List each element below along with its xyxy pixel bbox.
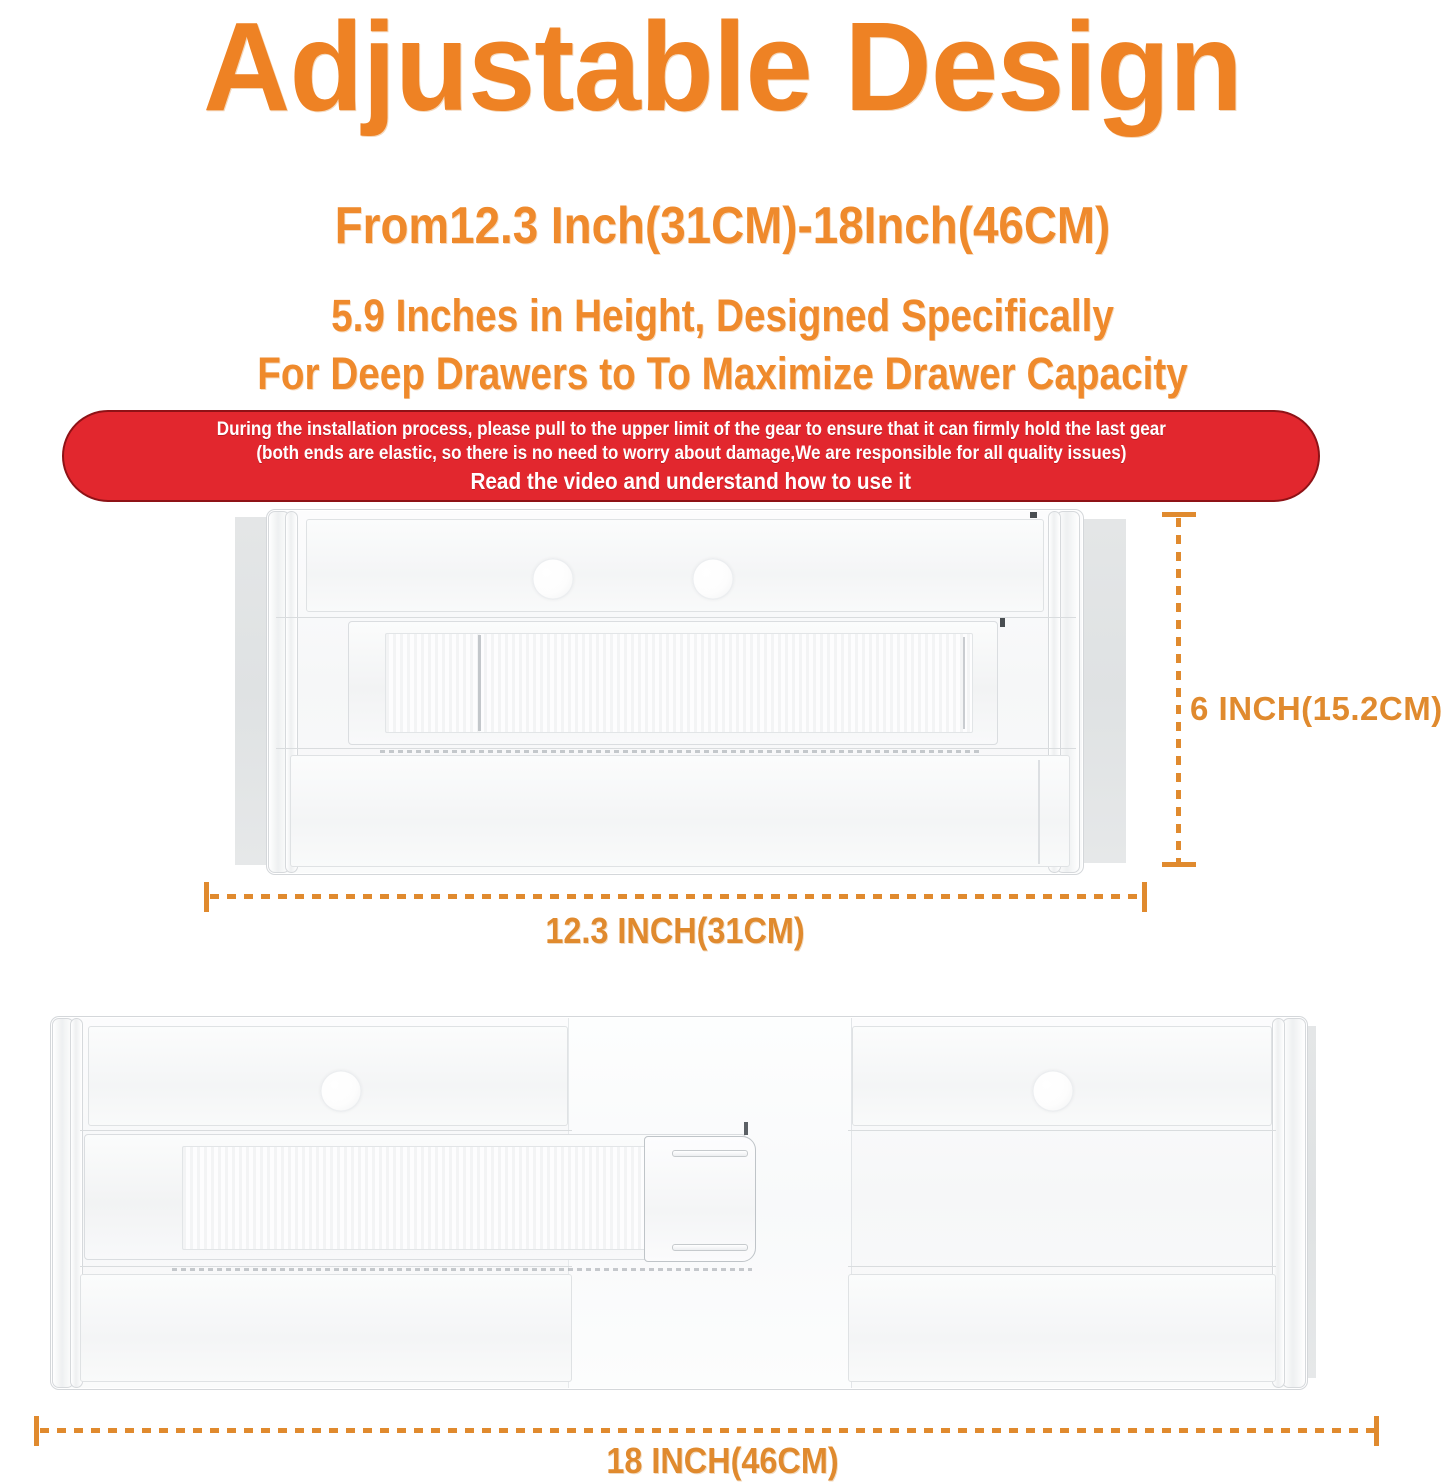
separator-lower-left [80,1266,572,1267]
gear-tick-mark [744,1122,748,1135]
dim-cap-left [204,882,209,912]
installation-notice-banner: During the installation process, please … [62,410,1320,502]
dim-label-height: 6 INCH(15.2CM) [1190,690,1443,728]
dim-line-width-bottom [40,1428,1376,1433]
subtitle-capacity: For Deep Drawers to To Maximize Drawer C… [101,348,1344,400]
latch-bar-top [672,1150,748,1157]
right-rail-expanded [1282,1018,1306,1388]
separator-upper-left [80,1130,572,1131]
subtitle-height: 5.9 Inches in Height, Designed Specifica… [101,290,1344,342]
rib-groove-right [963,637,965,729]
product-image-collapsed [230,505,1130,880]
finger-hole-right-expanded [1032,1070,1074,1112]
page-title: Adjustable Design [29,0,1416,139]
dim-cap-bottom [1162,862,1196,867]
left-bottom-face [80,1274,572,1382]
finger-hole-right [692,558,734,600]
dim-cap-left-bottom [34,1416,39,1446]
finger-hole-left [532,558,574,600]
separator-lower-right [848,1266,1276,1267]
dim-cap-right-bottom [1374,1416,1379,1446]
finger-hole-left-expanded [320,1070,362,1112]
bottom-face-panel [290,755,1070,867]
notice-line-3: Read the video and understand how to use… [471,466,911,496]
latch-bar-bottom [672,1244,748,1251]
corner-marker-mid [1000,618,1005,627]
corner-marker-top [1030,512,1037,518]
notice-line-1: During the installation process, please … [216,418,1165,442]
dim-cap-top [1162,512,1196,517]
bottom-face-edge [1038,760,1040,864]
rib-groove [478,635,481,731]
dim-line-height [1176,518,1181,868]
dim-line-width-top [210,894,1144,899]
dim-label-width-bottom: 18 INCH(46CM) [72,1440,1373,1482]
right-bottom-face [848,1274,1276,1382]
dim-cap-right [1142,882,1147,912]
dim-label-width-top: 12.3 INCH(31CM) [68,910,1283,952]
grill-dash-strip-expanded [172,1268,752,1271]
separator-lower [276,748,1076,749]
top-face-panel [306,519,1044,612]
product-image-expanded [32,1012,1342,1394]
separator-upper-right [848,1130,1276,1131]
subtitle-range: From12.3 Inch(31CM)-18Inch(46CM) [87,196,1359,256]
grill-dash-strip [380,750,980,753]
rib-panel [385,633,973,733]
notice-line-2: (both ends are elastic, so there is no n… [256,442,1126,466]
separator-upper [276,617,1076,618]
